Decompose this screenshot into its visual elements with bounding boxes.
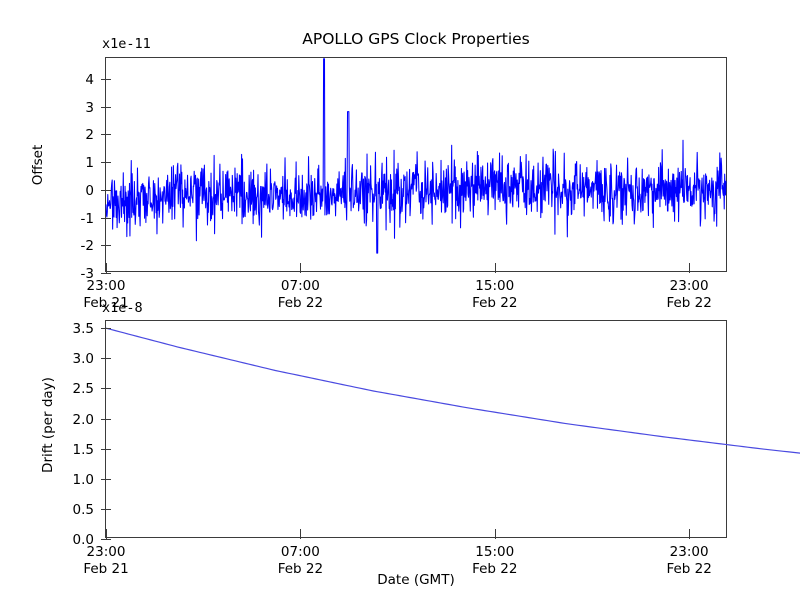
- drift-curve-path: [106, 328, 800, 528]
- top-ytick-4-label: 1: [85, 155, 94, 171]
- bot-xtick-1-mark: [106, 529, 107, 539]
- x-axis-label: Date (GMT): [105, 572, 727, 588]
- bot-ytick-3-mark: 1.5: [101, 449, 111, 450]
- top-xtick-2-label: 07:00Feb 22: [278, 278, 323, 312]
- offset-series-line: [106, 58, 726, 271]
- top-ytick-1-label: -2: [81, 238, 94, 254]
- top-ytick-1-mark: -2: [101, 245, 111, 246]
- bot-xtick-3-mark: [495, 529, 496, 539]
- bot-ytick-7-label: 3.5: [73, 321, 94, 337]
- top-ytick-4-mark: 1: [101, 162, 111, 163]
- top-ytick-7-label: 4: [85, 72, 94, 88]
- page-title: APOLLO GPS Clock Properties: [105, 30, 727, 48]
- bot-xtick-3-time: 15:00: [475, 544, 514, 560]
- offset-trace-path: [106, 59, 726, 253]
- top-y-axis-label: Offset: [30, 105, 46, 225]
- bot-ytick-0-mark: 0.0: [101, 539, 111, 540]
- drift-plot-axes: 0.00.51.01.52.02.53.03.5 15:00Feb 2123:0…: [105, 320, 727, 538]
- bot-ytick-5-label: 2.5: [73, 381, 94, 397]
- drift-series-line: [106, 321, 726, 537]
- bot-ytick-4-mark: 2.0: [101, 419, 111, 420]
- bot-xtick-4-mark: [689, 529, 690, 539]
- top-xtick-4-date: Feb 22: [666, 295, 711, 312]
- offset-plot-axes: -3-2-101234 15:00Feb 2123:00Feb 2107:00F…: [105, 57, 727, 272]
- top-xtick-3-mark: [495, 263, 496, 273]
- top-ytick-6-label: 3: [85, 100, 94, 116]
- bot-xtick-2-mark: [300, 529, 301, 539]
- top-xtick-2-mark: [300, 263, 301, 273]
- top-ytick-2-label: -1: [81, 211, 94, 227]
- top-xtick-3-label: 15:00Feb 22: [472, 278, 517, 312]
- top-xtick-3-time: 15:00: [475, 278, 514, 294]
- bot-ytick-5-mark: 2.5: [101, 388, 111, 389]
- bot-ytick-6-label: 3.0: [73, 351, 94, 367]
- top-ytick-5-label: 2: [85, 127, 94, 143]
- bot-ytick-4-label: 2.0: [73, 412, 94, 428]
- bot-xtick-1-time: 23:00: [87, 544, 126, 560]
- top-ytick-0-mark: -3: [101, 273, 111, 274]
- top-xtick-2-time: 07:00: [281, 278, 320, 294]
- top-xtick-4-mark: [689, 263, 690, 273]
- top-xtick-1-mark: [106, 263, 107, 273]
- bot-ytick-2-mark: 1.0: [101, 479, 111, 480]
- top-xtick-4-label: 23:00Feb 22: [666, 278, 711, 312]
- bot-xtick-2-time: 07:00: [281, 544, 320, 560]
- bot-ytick-2-label: 1.0: [73, 472, 94, 488]
- bot-xtick-4-time: 23:00: [670, 544, 709, 560]
- bot-ytick-6-mark: 3.0: [101, 358, 111, 359]
- top-ytick-3-label: 0: [85, 183, 94, 199]
- bot-ytick-1-mark: 0.5: [101, 509, 111, 510]
- top-exponent-label: x1e-11: [102, 36, 151, 52]
- top-ytick-7-mark: 4: [101, 79, 111, 80]
- bot-ytick-7-mark: 3.5: [101, 328, 111, 329]
- top-xtick-4-time: 23:00: [670, 278, 709, 294]
- top-ytick-2-mark: -1: [101, 218, 111, 219]
- bottom-y-axis-label: Drift (per day): [40, 335, 56, 515]
- top-ytick-6-mark: 3: [101, 107, 111, 108]
- top-xtick-3-date: Feb 22: [472, 295, 517, 312]
- top-ytick-5-mark: 2: [101, 134, 111, 135]
- bottom-exponent-label: x1e-8: [102, 300, 143, 316]
- bot-ytick-1-label: 0.5: [73, 502, 94, 518]
- figure-canvas: APOLLO GPS Clock Properties x1e-11 Offse…: [0, 0, 800, 600]
- bot-ytick-3-label: 1.5: [73, 442, 94, 458]
- top-xtick-2-date: Feb 22: [278, 295, 323, 312]
- top-ytick-3-mark: 0: [101, 190, 111, 191]
- top-xtick-1-time: 23:00: [87, 278, 126, 294]
